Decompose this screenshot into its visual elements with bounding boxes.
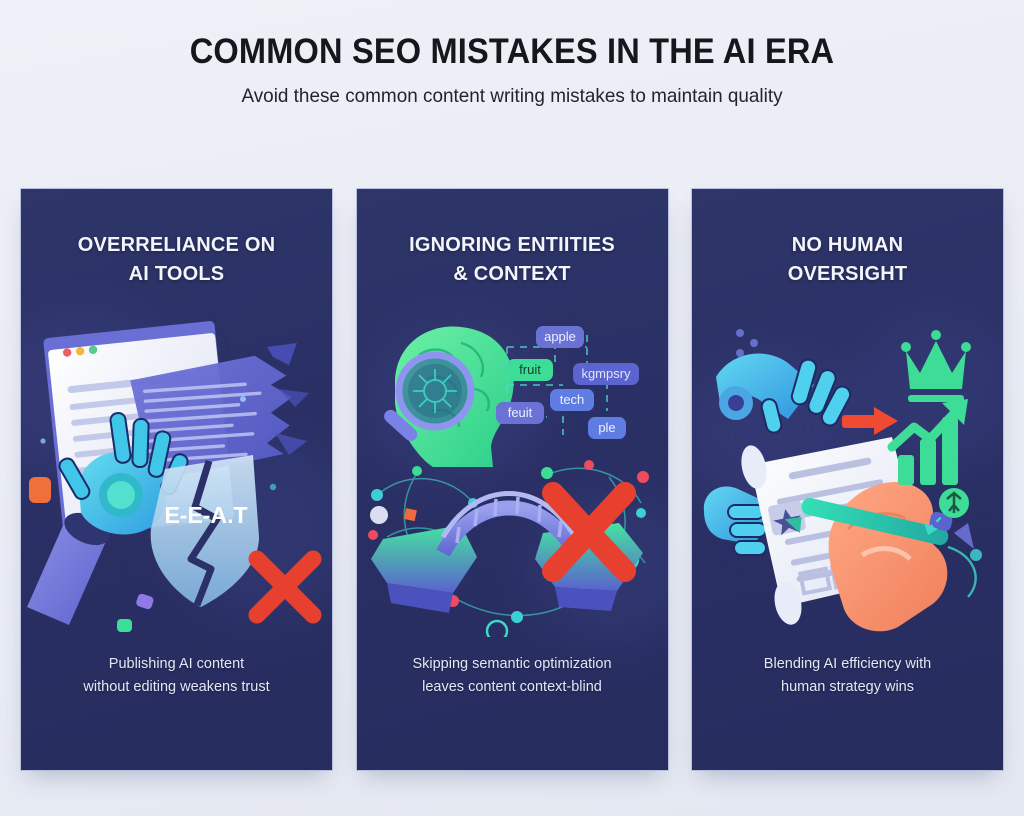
svg-text:tech: tech	[559, 392, 584, 407]
page-subtitle: Avoid these common content writing mista…	[15, 85, 1008, 108]
svg-text:ple: ple	[598, 420, 615, 435]
entity-tags: apple fruit kgmpsry feuit	[496, 326, 639, 439]
green-chip	[117, 619, 132, 632]
shield-label: E-E-A.T	[164, 502, 247, 528]
card-title: IGNORING ENTIITIES & CONTEXT	[357, 231, 668, 289]
growth-chart	[892, 399, 968, 485]
card-title-line-1: OVERRELIANCE ON	[21, 231, 332, 260]
card-no-human-oversight[interactable]: NO HUMAN OVERSIGHT	[691, 188, 1004, 771]
card-title-line-2: AI TOOLS	[21, 260, 332, 289]
card-title-line-1: IGNORING ENTIITIES	[357, 231, 668, 260]
entity-tag: fruit	[507, 359, 553, 381]
card-caption: Publishing AI content without editing we…	[21, 653, 332, 698]
robot-arm	[716, 354, 853, 435]
red-arrow	[842, 407, 898, 435]
decorative-dots	[736, 329, 758, 357]
red-x-mark	[257, 559, 313, 615]
card-caption: Blending AI efficiency with human strate…	[692, 653, 1003, 698]
cracked-shield: E-E-A.T	[151, 455, 259, 607]
svg-text:apple: apple	[544, 329, 576, 344]
page-title: COMMON SEO MISTAKES IN THE AI ERA	[36, 34, 988, 71]
entity-tag: apple	[536, 326, 584, 348]
illustration-robot-arm-human-hand-editing	[692, 307, 1004, 637]
svg-text:fruit: fruit	[519, 362, 541, 377]
card-caption-line-2: without editing weakens trust	[21, 676, 332, 698]
entity-tag: ple	[588, 417, 626, 439]
svg-text:kgmpsry: kgmpsry	[581, 366, 631, 381]
card-caption-line-2: leaves content context-blind	[357, 676, 668, 698]
header: COMMON SEO MISTAKES IN THE AI ERA Avoid …	[0, 34, 1024, 108]
card-caption-line-1: Publishing AI content	[21, 653, 332, 675]
purple-chip	[135, 593, 154, 610]
card-caption-line-1: Blending AI efficiency with	[692, 653, 1003, 675]
card-title-line-1: NO HUMAN	[692, 231, 1003, 260]
card-caption-line-2: human strategy wins	[692, 676, 1003, 698]
entity-tag: tech	[550, 389, 594, 411]
entity-tag: feuit	[496, 402, 544, 424]
illustration-robot-hand-document-broken-shield: E-E-A.T	[21, 307, 333, 637]
card-title: NO HUMAN OVERSIGHT	[692, 231, 1003, 289]
card-caption-line-1: Skipping semantic optimization	[357, 653, 668, 675]
card-overreliance-on-ai-tools[interactable]: OVERRELIANCE ON AI TOOLS	[20, 188, 333, 771]
card-title-line-2: OVERSIGHT	[692, 260, 1003, 289]
illustration-brain-magnifier-entity-graph: apple fruit kgmpsry feuit	[357, 307, 669, 637]
entity-tag: kgmpsry	[573, 363, 639, 385]
cards-row: OVERRELIANCE ON AI TOOLS	[20, 188, 1004, 771]
card-caption: Skipping semantic optimization leaves co…	[357, 653, 668, 698]
infographic-page: COMMON SEO MISTAKES IN THE AI ERA Avoid …	[0, 0, 1024, 816]
crown-icon	[901, 330, 971, 402]
human-hand	[829, 482, 948, 631]
svg-text:feuit: feuit	[507, 405, 532, 420]
card-ignoring-entities-and-context[interactable]: IGNORING ENTIITIES & CONTEXT	[356, 188, 669, 771]
card-title-line-2: & CONTEXT	[357, 260, 668, 289]
orange-block	[29, 477, 51, 503]
card-title: OVERRELIANCE ON AI TOOLS	[21, 231, 332, 289]
